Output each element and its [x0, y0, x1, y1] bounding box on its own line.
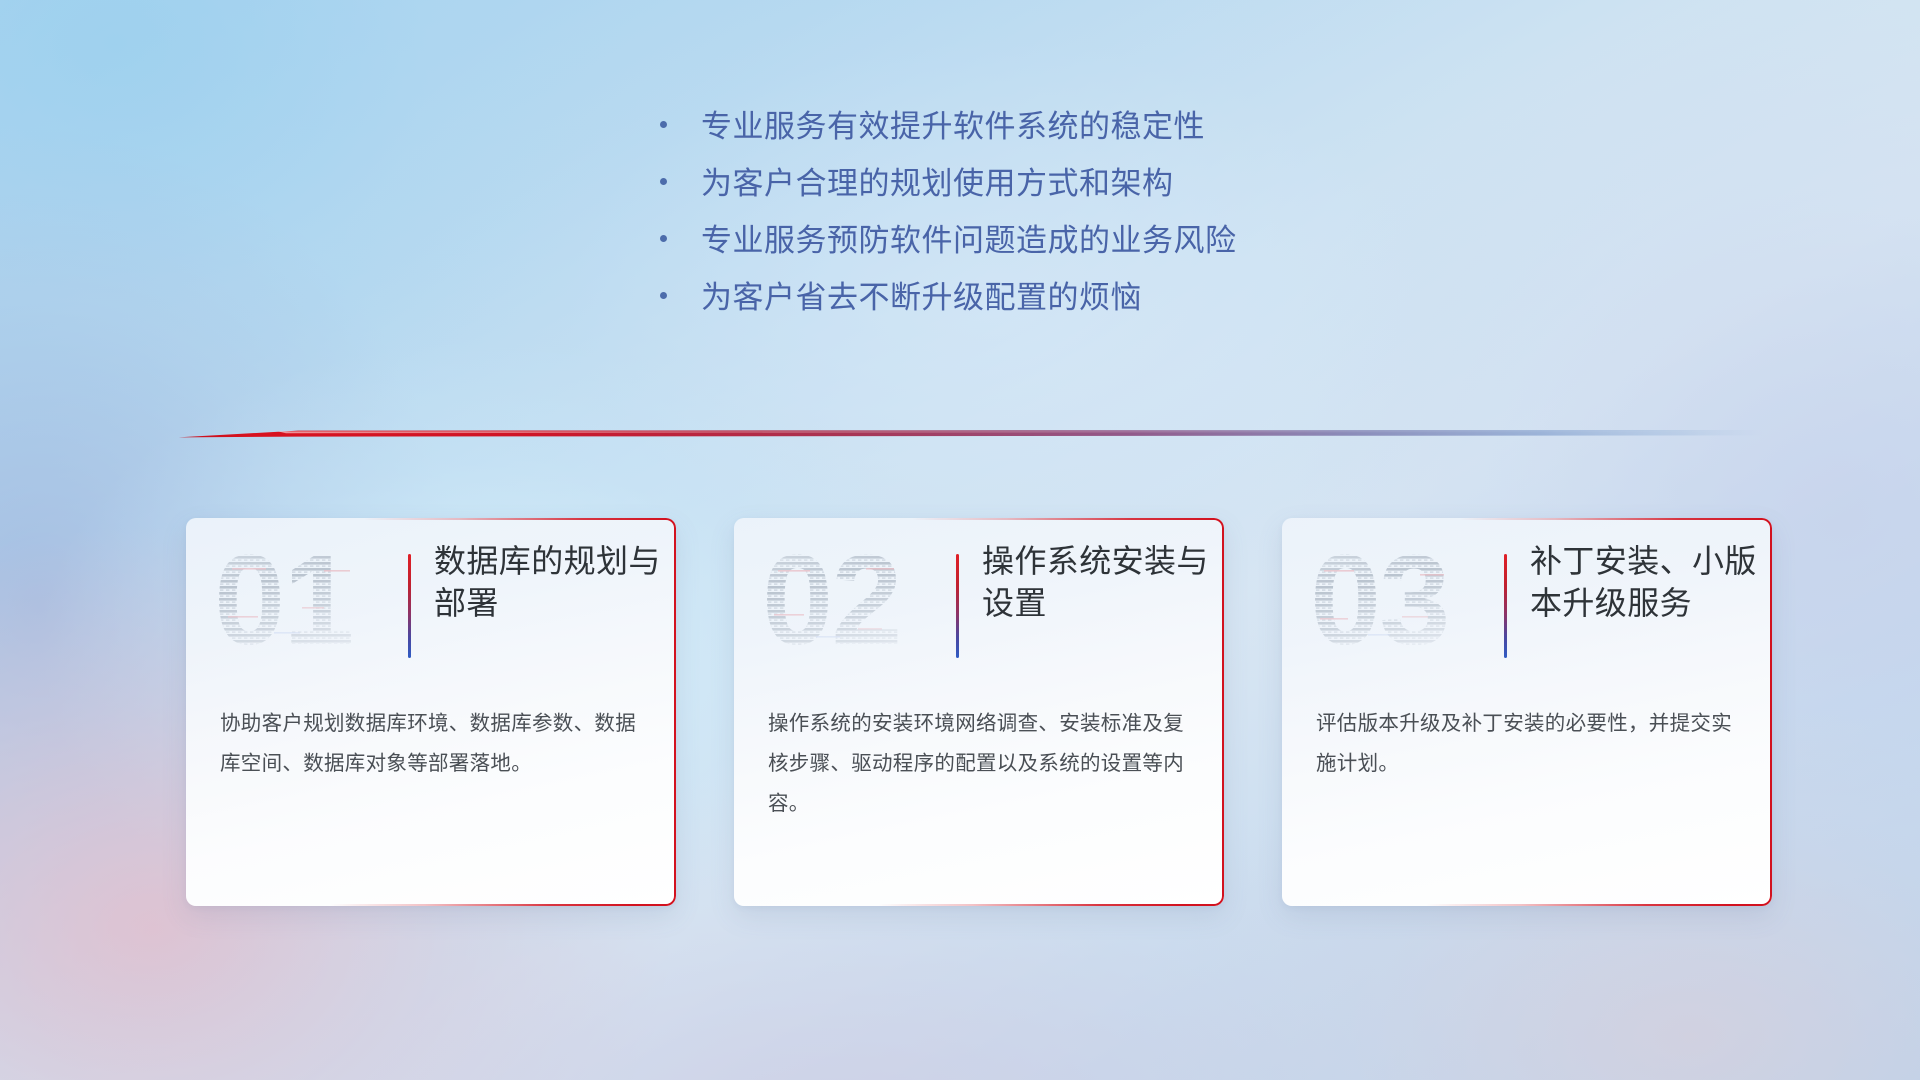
- bullet-dot-icon: [660, 235, 667, 242]
- card-title: 数据库的规划与部署: [434, 540, 662, 624]
- bullet-item: 专业服务有效提升软件系统的稳定性: [660, 110, 1237, 144]
- bullet-item: 专业服务预防软件问题造成的业务风险: [660, 224, 1237, 258]
- bullet-text: 为客户合理的规划使用方式和架构: [701, 167, 1174, 201]
- card-title: 补丁安装、小版本升级服务: [1530, 540, 1758, 624]
- card-body-text: 协助客户规划数据库环境、数据库参数、数据库空间、数据库对象等部署落地。: [220, 704, 648, 784]
- bullet-dot-icon: [660, 292, 667, 299]
- svg-text:03: 03: [1310, 544, 1448, 666]
- service-card[interactable]: 01 数据库的规划与部署 协助客户规划数据库环境、数据库参数、数据库空间、数据库…: [186, 518, 676, 906]
- card-title-divider-bar: [956, 554, 959, 658]
- service-card[interactable]: 02 操作系统安装与设置 操作系统的安装环境网络调查、安装标准及复核步骤、驱动程…: [734, 518, 1224, 906]
- card-number-watermark: 02: [762, 544, 930, 666]
- card-body-text: 评估版本升级及补丁安装的必要性，并提交实施计划。: [1316, 704, 1744, 784]
- bullet-dot-icon: [660, 178, 667, 185]
- section-divider: [178, 425, 1763, 441]
- bullet-text: 专业服务预防软件问题造成的业务风险: [701, 224, 1237, 258]
- card-title-divider-bar: [408, 554, 411, 658]
- bullet-item: 为客户合理的规划使用方式和架构: [660, 167, 1237, 201]
- card-body-text: 操作系统的安装环境网络调查、安装标准及复核步骤、驱动程序的配置以及系统的设置等内…: [768, 704, 1196, 824]
- svg-text:02: 02: [762, 544, 900, 666]
- bullet-text: 为客户省去不断升级配置的烦恼: [701, 281, 1142, 315]
- card-title: 操作系统安装与设置: [982, 540, 1210, 624]
- benefits-bullet-list: 专业服务有效提升软件系统的稳定性 为客户合理的规划使用方式和架构 专业服务预防软…: [660, 110, 1237, 338]
- bullet-text: 专业服务有效提升软件系统的稳定性: [701, 110, 1205, 144]
- svg-text:01: 01: [214, 544, 352, 666]
- card-title-divider-bar: [1504, 554, 1507, 658]
- card-number-watermark: 01: [214, 544, 382, 666]
- card-number-watermark: 03: [1310, 544, 1478, 666]
- service-card-list: 01 数据库的规划与部署 协助客户规划数据库环境、数据库参数、数据库空间、数据库…: [186, 518, 1772, 906]
- bullet-item: 为客户省去不断升级配置的烦恼: [660, 281, 1237, 315]
- bullet-dot-icon: [660, 121, 667, 128]
- service-card[interactable]: 03 补丁安装、小版本升级服务 评估版本升级及补丁安装的必要性，并提交实施计划。: [1282, 518, 1772, 906]
